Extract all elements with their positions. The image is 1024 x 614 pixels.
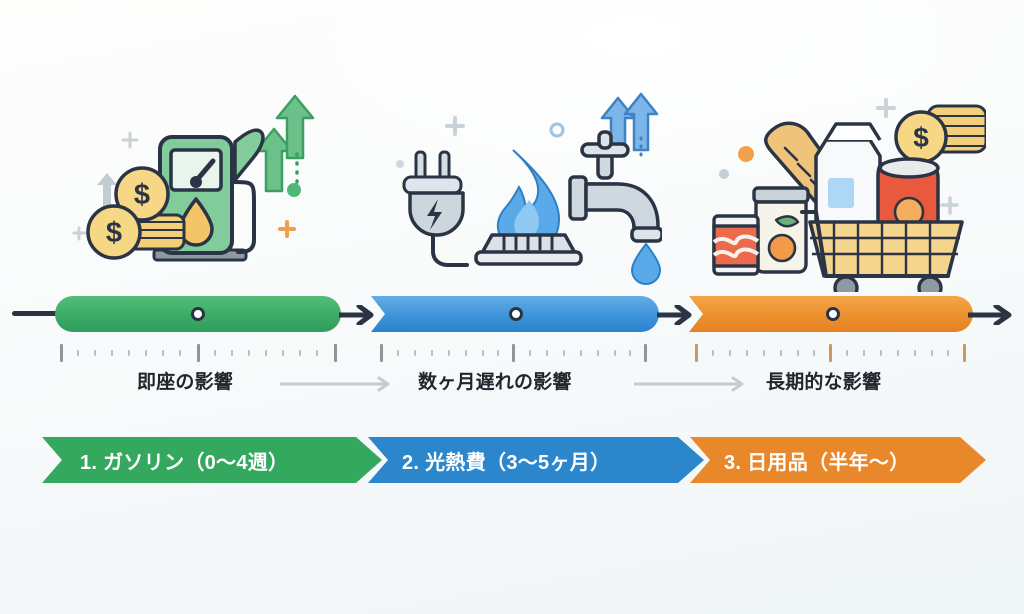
plus-icon bbox=[447, 118, 463, 134]
tick-minor bbox=[179, 350, 181, 356]
tick-minor bbox=[863, 350, 865, 356]
can-icon bbox=[714, 216, 758, 274]
tick-minor bbox=[299, 350, 301, 356]
tick-minor bbox=[431, 350, 433, 356]
timeline-axis-start bbox=[12, 311, 60, 316]
timeline-marker-daily-goods[interactable] bbox=[826, 307, 840, 321]
tick-minor bbox=[846, 350, 848, 356]
tick-minor bbox=[797, 350, 799, 356]
timeline-ticks bbox=[0, 342, 1024, 364]
stage-label-daily-goods: 長期的な影響 bbox=[766, 368, 881, 398]
illustration-gasoline: $ $ bbox=[72, 92, 338, 292]
timeline-connector-arrow-2 bbox=[657, 305, 693, 325]
stage-connector-arrow bbox=[634, 376, 752, 392]
dollar-coin-stack-icon: $ bbox=[896, 106, 986, 162]
tick-minor bbox=[614, 350, 616, 356]
tick-minor bbox=[563, 350, 565, 356]
tick-major bbox=[197, 344, 200, 362]
tick-minor bbox=[94, 350, 96, 356]
infographic-canvas: $ $ bbox=[0, 0, 1024, 614]
banner-utilities[interactable]: 2. 光熱費（3〜5ヶ月） bbox=[368, 437, 704, 483]
tick-minor bbox=[414, 350, 416, 356]
timeline-end-arrow bbox=[968, 305, 1014, 325]
tick-minor bbox=[448, 350, 450, 356]
banner-daily-goods[interactable]: 3. 日用品（半年〜） bbox=[690, 437, 986, 483]
tick-major bbox=[334, 344, 337, 362]
dot-icon bbox=[719, 169, 729, 179]
tick-minor bbox=[231, 350, 233, 356]
illustration-row: $ $ bbox=[0, 92, 1024, 292]
banner-label-utilities: 2. 光熱費（3〜5ヶ月） bbox=[402, 446, 610, 475]
tick-minor bbox=[316, 350, 318, 356]
svg-text:$: $ bbox=[913, 122, 929, 153]
tick-minor bbox=[397, 350, 399, 356]
tick-minor bbox=[746, 350, 748, 356]
water-drop-icon bbox=[632, 244, 660, 284]
tick-minor bbox=[597, 350, 599, 356]
tick-minor bbox=[497, 350, 499, 356]
svg-text:$: $ bbox=[134, 179, 150, 211]
dot-icon bbox=[396, 160, 404, 168]
timeline bbox=[0, 296, 1024, 342]
dot-icon bbox=[287, 183, 301, 197]
tick-minor bbox=[265, 350, 267, 356]
tick-minor bbox=[145, 350, 147, 356]
stage-label-gasoline: 即座の影響 bbox=[137, 368, 233, 398]
tick-minor bbox=[128, 350, 130, 356]
timeline-connector-arrow-1 bbox=[339, 305, 375, 325]
timeline-marker-utilities[interactable] bbox=[509, 307, 523, 321]
tick-minor bbox=[914, 350, 916, 356]
power-plug-icon bbox=[404, 152, 467, 265]
banner-row: 1. ガソリン（0〜4週） 2. 光熱費（3〜5ヶ月） 3. 日用品（半年〜） bbox=[0, 437, 1024, 485]
jar-icon bbox=[754, 188, 808, 272]
timeline-marker-gasoline[interactable] bbox=[191, 307, 205, 321]
dot-icon bbox=[738, 146, 754, 162]
tick-minor bbox=[780, 350, 782, 356]
tick-minor bbox=[529, 350, 531, 356]
circle-outline-icon bbox=[551, 124, 563, 136]
fuel-hose bbox=[232, 182, 254, 252]
tick-major bbox=[512, 344, 515, 362]
shopping-cart-icon bbox=[802, 212, 962, 292]
svg-text:$: $ bbox=[106, 217, 122, 249]
gas-burner-icon bbox=[476, 235, 581, 264]
sparkle-icon bbox=[942, 198, 957, 213]
tick-minor bbox=[712, 350, 714, 356]
tick-minor bbox=[897, 350, 899, 356]
stage-label-utilities: 数ヶ月遅れの影響 bbox=[418, 368, 572, 398]
tick-minor bbox=[546, 350, 548, 356]
stage-label-row: 即座の影響 数ヶ月遅れの影響 長期的な影響 bbox=[0, 368, 1024, 400]
up-arrow-icon bbox=[625, 94, 657, 150]
can-icon bbox=[878, 159, 938, 226]
tick-major bbox=[963, 344, 966, 362]
tick-minor bbox=[162, 350, 164, 356]
tick-minor bbox=[729, 350, 731, 356]
banner-gasoline[interactable]: 1. ガソリン（0〜4週） bbox=[42, 437, 382, 483]
tick-minor bbox=[880, 350, 882, 356]
tick-minor bbox=[629, 350, 631, 356]
plug-cord bbox=[433, 235, 467, 265]
tick-minor bbox=[111, 350, 113, 356]
stage-connector-arrow bbox=[280, 376, 398, 392]
illustration-daily-goods: $ bbox=[706, 92, 986, 292]
tick-major bbox=[695, 344, 698, 362]
tick-major bbox=[644, 344, 647, 362]
up-arrow-icon bbox=[97, 173, 117, 207]
tick-minor bbox=[482, 350, 484, 356]
tick-minor bbox=[580, 350, 582, 356]
plus-icon bbox=[280, 222, 294, 236]
tick-major bbox=[380, 344, 383, 362]
banner-label-daily-goods: 3. 日用品（半年〜） bbox=[724, 446, 910, 475]
plus-icon bbox=[878, 100, 894, 116]
tick-minor bbox=[931, 350, 933, 356]
tick-minor bbox=[813, 350, 815, 356]
tick-minor bbox=[282, 350, 284, 356]
tick-major bbox=[60, 344, 63, 362]
illustration-utilities bbox=[396, 92, 662, 292]
tick-minor bbox=[77, 350, 79, 356]
fuel-nozzle-icon bbox=[235, 130, 263, 180]
tick-major bbox=[829, 344, 832, 362]
banner-label-gasoline: 1. ガソリン（0〜4週） bbox=[80, 446, 288, 475]
tick-minor bbox=[947, 350, 949, 356]
tick-minor bbox=[214, 350, 216, 356]
milk-carton-icon bbox=[816, 124, 880, 226]
tick-minor bbox=[465, 350, 467, 356]
tick-minor bbox=[248, 350, 250, 356]
tick-minor bbox=[763, 350, 765, 356]
